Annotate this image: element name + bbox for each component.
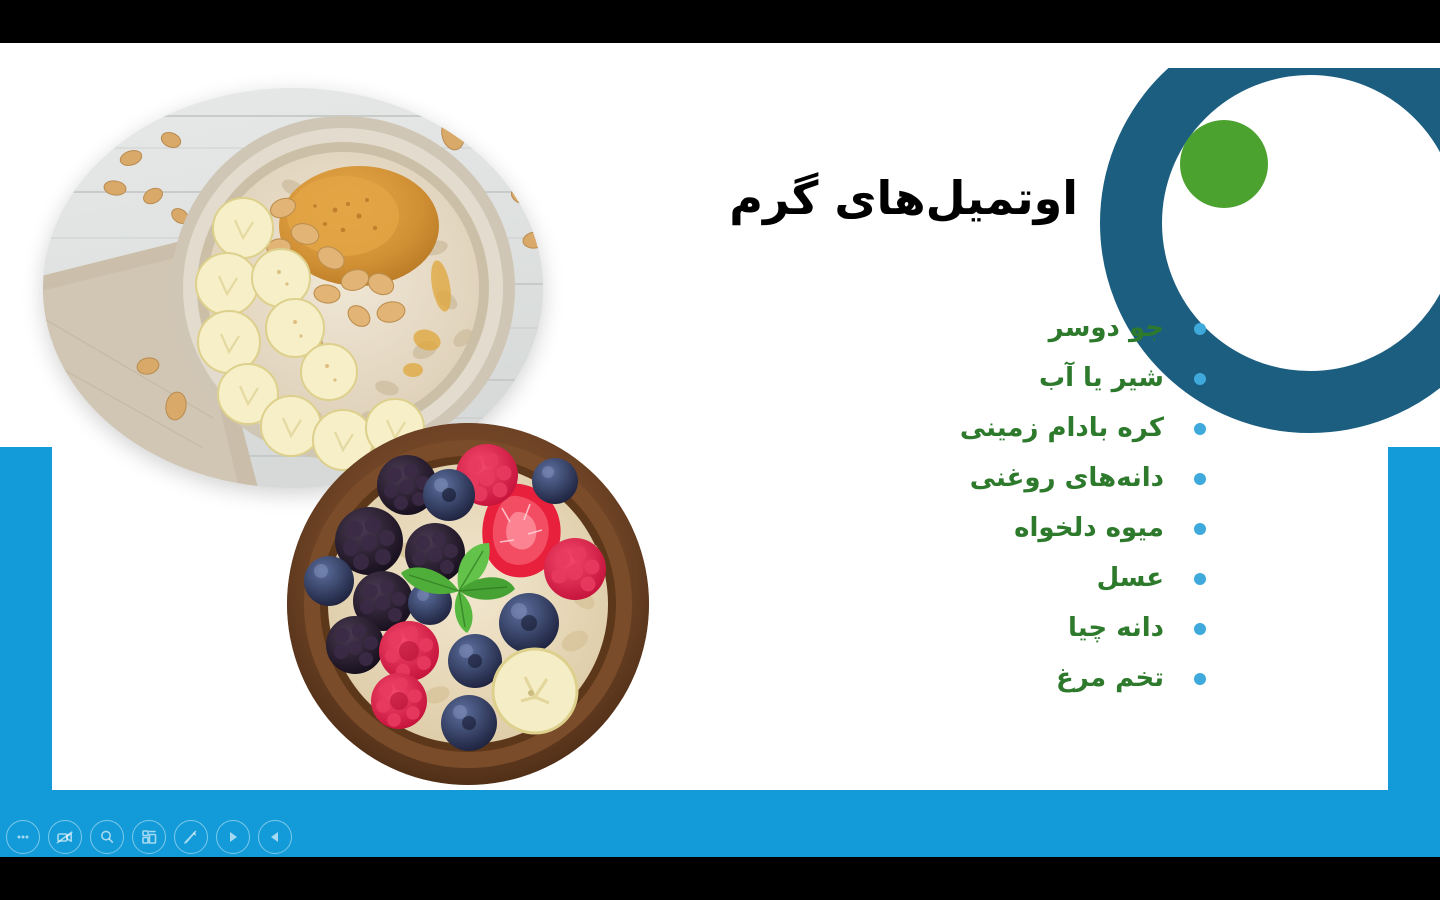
bullet-dot-icon	[1194, 523, 1206, 535]
all-slides-button[interactable]	[132, 820, 166, 854]
bullet-dot-icon	[1194, 573, 1206, 585]
camera-off-icon	[55, 828, 75, 846]
zoom-slide-button[interactable]	[90, 820, 124, 854]
list-item: تخم مرغ	[850, 653, 1210, 703]
list-item: دانه چیا	[850, 603, 1210, 653]
list-item-label: میوه دلخواه	[1014, 513, 1164, 543]
pen-tool-button[interactable]	[174, 820, 208, 854]
list-item-label: کره بادام زمینی	[960, 413, 1164, 443]
list-item: جو دوسر	[850, 303, 1210, 353]
bullet-dot-icon	[1194, 623, 1206, 635]
previous-slide-button[interactable]	[258, 820, 292, 854]
list-item-label: دانه چیا	[1068, 613, 1164, 643]
list-item-label: تخم مرغ	[1056, 663, 1164, 693]
list-item: دانه‌های روغنی	[850, 453, 1210, 503]
presentation-stage: اوتمیل‌های گرم جو دوسر شیر یا آب کره باد…	[0, 0, 1440, 900]
ellipsis-icon	[14, 828, 32, 846]
more-options-button[interactable]	[6, 820, 40, 854]
letterbox-top	[0, 0, 1440, 43]
decorative-right-bar	[1388, 447, 1440, 857]
grid-slides-icon	[140, 828, 158, 846]
list-item-label: عسل	[1097, 563, 1164, 593]
list-item-label: دانه‌های روغنی	[970, 463, 1164, 493]
pen-icon	[182, 828, 200, 846]
triangle-left-icon	[267, 829, 283, 845]
presenter-toolbar	[6, 820, 292, 854]
letterbox-bottom	[0, 857, 1440, 900]
bullet-dot-icon	[1194, 673, 1206, 685]
list-item: شیر یا آب	[850, 353, 1210, 403]
image-berry-oatmeal-bowl	[287, 423, 649, 785]
list-item: کره بادام زمینی	[850, 403, 1210, 453]
bullet-dot-icon	[1194, 423, 1206, 435]
bullet-dot-icon	[1194, 373, 1206, 385]
bullet-dot-icon	[1194, 323, 1206, 335]
slide-title: اوتمیل‌های گرم	[658, 171, 1078, 226]
slide-canvas: اوتمیل‌های گرم جو دوسر شیر یا آب کره باد…	[0, 43, 1440, 857]
list-item-label: جو دوسر	[1049, 313, 1164, 343]
list-item-label: شیر یا آب	[1039, 363, 1164, 393]
magnifier-icon	[98, 828, 116, 846]
toggle-camera-button[interactable]	[48, 820, 82, 854]
list-item: عسل	[850, 553, 1210, 603]
ingredient-list: جو دوسر شیر یا آب کره بادام زمینی دانه‌ه…	[850, 303, 1210, 703]
next-slide-button[interactable]	[216, 820, 250, 854]
decorative-green-circle	[1180, 120, 1268, 208]
triangle-right-icon	[225, 829, 241, 845]
list-item: میوه دلخواه	[850, 503, 1210, 553]
bullet-dot-icon	[1194, 473, 1206, 485]
